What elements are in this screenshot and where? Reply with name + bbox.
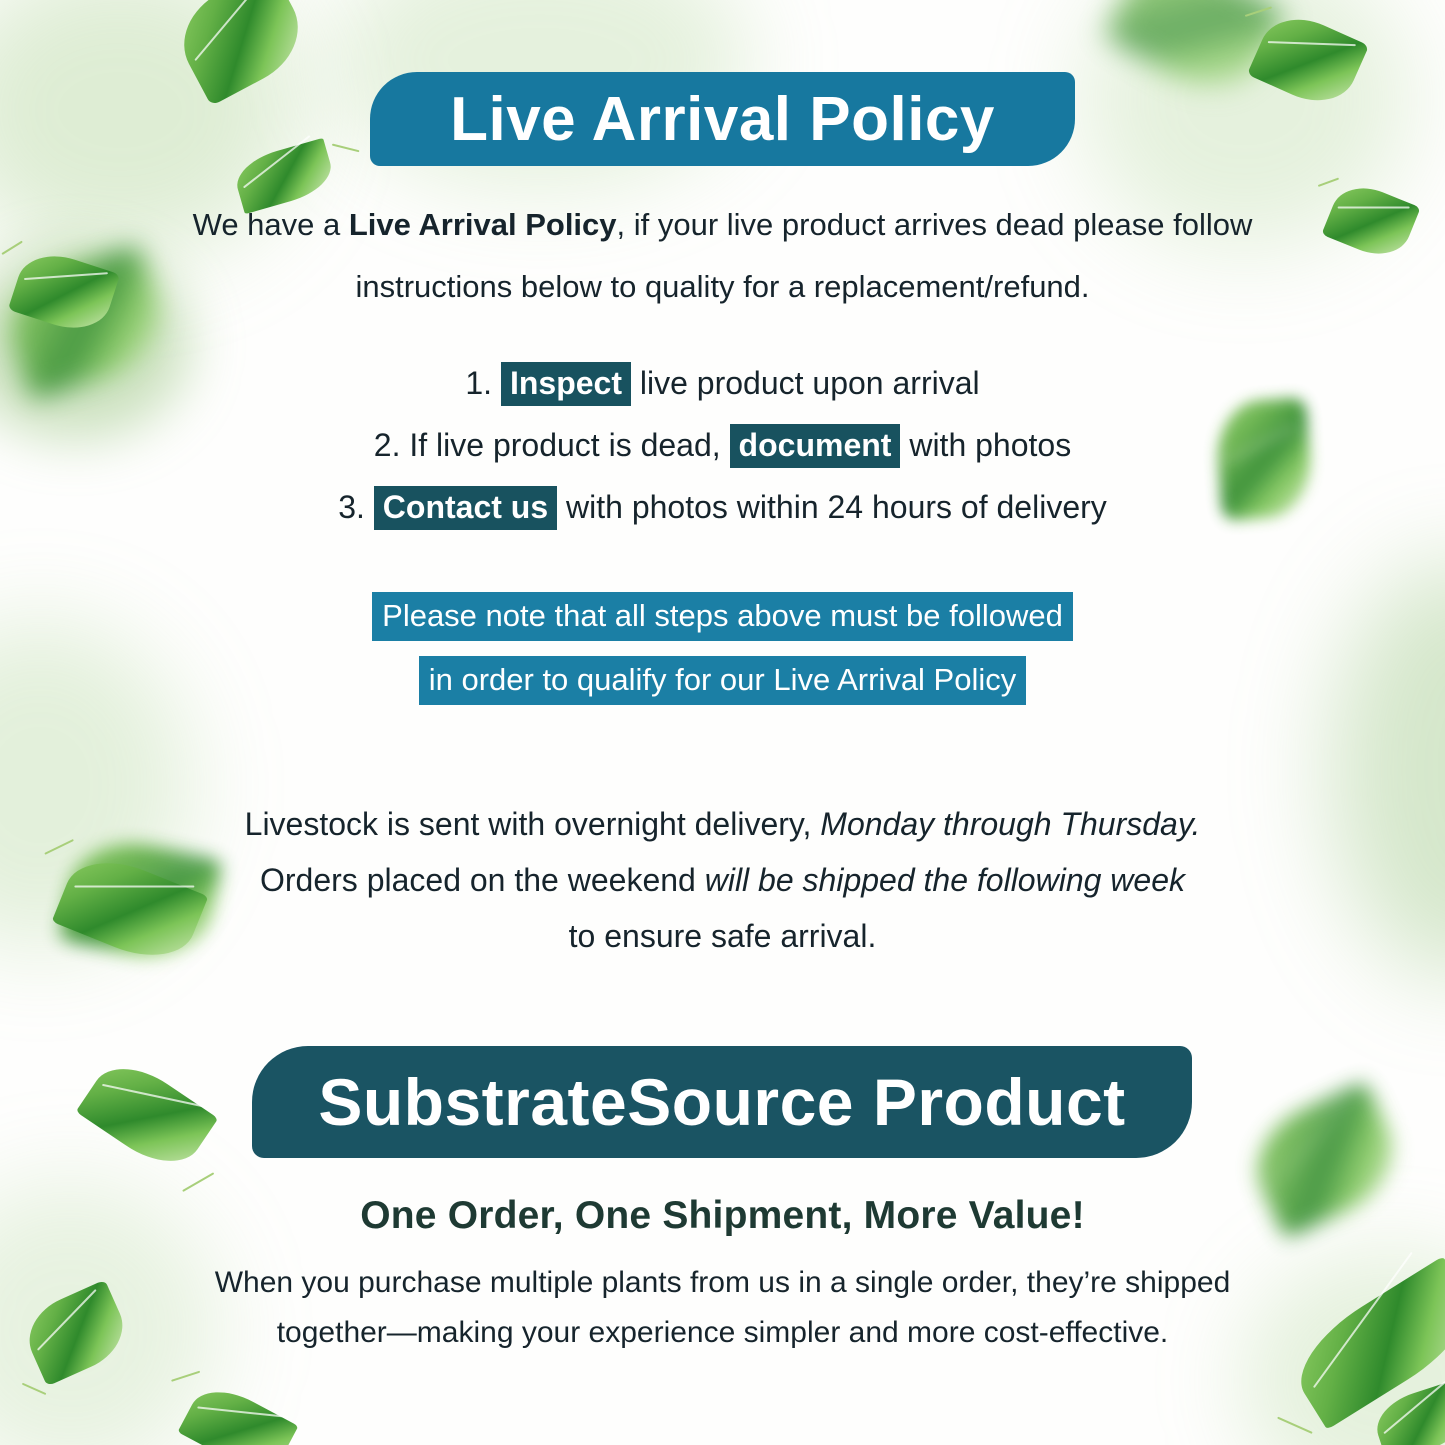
substratesource-product-banner: SubstrateSource Product [252, 1046, 1192, 1158]
shipping-line-1-plain: Livestock is sent with overnight deliver… [245, 806, 821, 842]
background-bloom-right-mid [1330, 560, 1445, 980]
policy-note-line-2-wrap: in order to qualify for our Live Arrival… [170, 648, 1275, 712]
intro-lead: We have a [193, 207, 349, 242]
leaf-left-lower [52, 846, 209, 973]
policy-note-block: Please note that all steps above must be… [170, 584, 1275, 712]
policy-note-line-1-wrap: Please note that all steps above must be… [170, 584, 1275, 648]
step-3-number: 3. [338, 489, 365, 525]
step-3-before [365, 489, 374, 525]
leaf-blurred-left-upper [0, 245, 174, 401]
step-3-after: with photos within 24 hours of delivery [557, 489, 1107, 525]
substratesource-product-banner-title: SubstrateSource Product [318, 1064, 1125, 1140]
leaf-top-right [1247, 5, 1369, 115]
background-bloom-left-mid [0, 620, 190, 950]
leaf-blurred-right-lower [1238, 1081, 1411, 1240]
value-proposition-body: When you purchase multiple plants from u… [180, 1258, 1265, 1358]
intro-bold-phrase: Live Arrival Policy [349, 207, 617, 242]
leaf-upper-left [8, 245, 120, 339]
step-2-before: If live product is dead, [400, 427, 729, 463]
leaf-right-upper [1321, 177, 1420, 265]
list-item: 3. Contact us with photos within 24 hour… [170, 476, 1275, 538]
step-2-after: with photos [900, 427, 1071, 463]
value-proposition-heading: One Order, One Shipment, More Value! [200, 1194, 1245, 1238]
shipping-line-2-italic: will be shipped the following week [705, 862, 1185, 898]
leaf-blurred-left-mid [58, 831, 223, 969]
intro-paragraph: We have a Live Arrival Policy, if your l… [150, 194, 1295, 318]
step-3-highlight: Contact us [374, 486, 557, 530]
step-1-after: live product upon arrival [631, 365, 980, 401]
step-1-number: 1. [465, 365, 492, 401]
leaf-bottom-center [178, 1377, 299, 1445]
leaf-bottom-left [17, 1280, 135, 1387]
live-arrival-policy-banner-title: Live Arrival Policy [450, 84, 995, 155]
live-arrival-policy-banner: Live Arrival Policy [370, 72, 1075, 166]
step-2-highlight: document [730, 424, 901, 468]
leaf-blurred-top-right-corner [1103, 0, 1288, 110]
step-1-highlight: Inspect [501, 362, 631, 406]
leaf-bottom-right-small [1369, 1379, 1445, 1445]
leaf-left-mid [76, 1050, 219, 1180]
leaf-top-center [166, 0, 315, 106]
shipping-line-3-plain: to ensure safe arrival. [569, 918, 877, 954]
shipping-schedule-paragraph: Livestock is sent with overnight deliver… [210, 796, 1235, 964]
list-item: 2. If live product is dead, document wit… [170, 414, 1275, 476]
instruction-step-list: 1. Inspect live product upon arrival 2. … [170, 352, 1275, 538]
step-2-number: 2. [374, 427, 401, 463]
policy-note-line-2: in order to qualify for our Live Arrival… [419, 656, 1027, 705]
shipping-line-1-italic: Monday through Thursday. [820, 806, 1200, 842]
background-bloom-bottom-right [1240, 1250, 1445, 1445]
policy-note-line-1: Please note that all steps above must be… [372, 592, 1073, 641]
leaf-bottom-right-large [1282, 1256, 1445, 1430]
shipping-line-2-plain: Orders placed on the weekend [260, 862, 705, 898]
list-item: 1. Inspect live product upon arrival [170, 352, 1275, 414]
live-arrival-policy-infographic: Live Arrival Policy We have a Live Arriv… [0, 0, 1445, 1445]
